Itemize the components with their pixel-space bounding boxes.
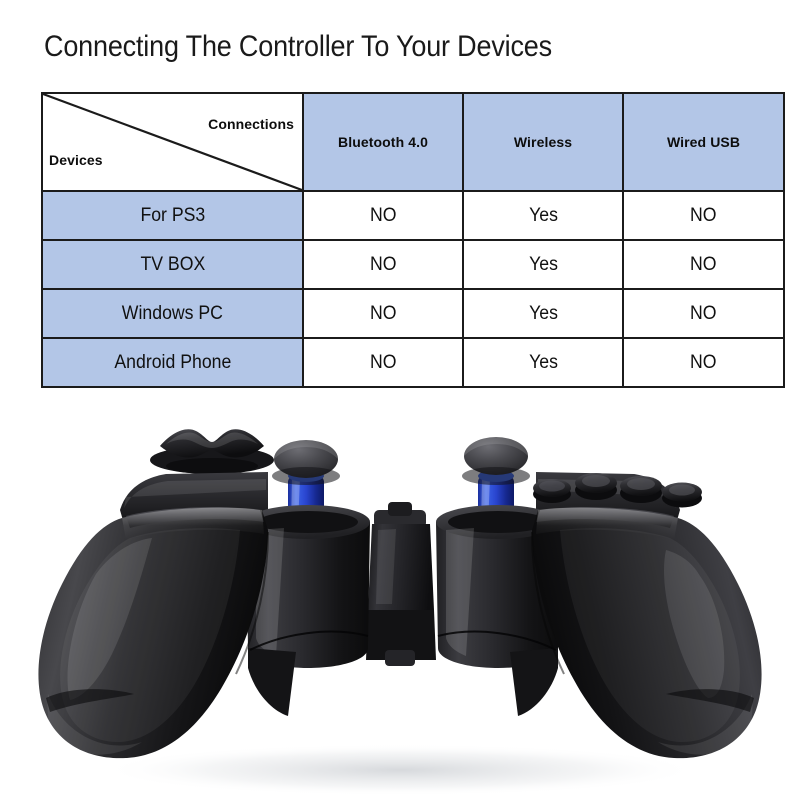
cell-text: NO (370, 205, 397, 227)
cell-tvbox-wired-usb: NO (623, 240, 784, 289)
face-button (575, 473, 617, 500)
cell-text: Yes (529, 352, 558, 374)
table-row: Windows PC NO Yes NO (42, 289, 784, 338)
cell-text: NO (690, 303, 717, 325)
cell-android-wired-usb: NO (623, 338, 784, 387)
left-grip (38, 507, 268, 758)
cell-text: NO (370, 303, 397, 325)
cell-text: Yes (529, 303, 558, 325)
d-pad (150, 429, 274, 474)
table-row: For PS3 NO Yes NO (42, 191, 784, 240)
column-header-wireless: Wireless (463, 93, 623, 191)
cell-android-bluetooth: NO (303, 338, 463, 387)
row-label-for-ps3: For PS3 (42, 191, 303, 240)
row-label-text: TV BOX (140, 254, 205, 276)
row-label-text: For PS3 (140, 205, 205, 227)
corner-devices-label: Devices (49, 152, 103, 168)
cell-text: NO (690, 254, 717, 276)
gamepad-illustration (0, 398, 800, 800)
cell-windows-wired-usb: NO (623, 289, 784, 338)
cell-windows-wireless: Yes (463, 289, 623, 338)
table-row: Android Phone NO Yes NO (42, 338, 784, 387)
product-image (0, 398, 800, 800)
corner-diagonal-line (43, 94, 302, 190)
row-label-tv-box: TV BOX (42, 240, 303, 289)
row-label-text: Windows PC (122, 303, 223, 325)
cell-text: NO (690, 205, 717, 227)
face-button (662, 483, 702, 508)
row-label-android-phone: Android Phone (42, 338, 303, 387)
column-header-wired-usb: Wired USB (623, 93, 784, 191)
cell-text: NO (370, 352, 397, 374)
row-label-windows-pc: Windows PC (42, 289, 303, 338)
drop-shadow (100, 744, 700, 796)
right-grip (532, 507, 762, 758)
cell-android-wireless: Yes (463, 338, 623, 387)
cell-windows-bluetooth: NO (303, 289, 463, 338)
table-row: TV BOX NO Yes NO (42, 240, 784, 289)
table-corner-cell: Connections Devices (42, 93, 303, 191)
corner-connections-label: Connections (208, 116, 294, 132)
table-header-row: Connections Devices Bluetooth 4.0 Wirele… (42, 93, 784, 191)
row-label-text: Android Phone (114, 352, 231, 374)
cell-tvbox-bluetooth: NO (303, 240, 463, 289)
cell-ps3-wired-usb: NO (623, 191, 784, 240)
cell-ps3-bluetooth: NO (303, 191, 463, 240)
cell-text: NO (690, 352, 717, 374)
column-header-bluetooth: Bluetooth 4.0 (303, 93, 463, 191)
page-title: Connecting The Controller To Your Device… (44, 30, 552, 64)
center-housing (366, 502, 436, 666)
cell-ps3-wireless: Yes (463, 191, 623, 240)
cell-text: Yes (529, 205, 558, 227)
face-button (533, 479, 571, 503)
face-button (620, 476, 662, 503)
compatibility-table: Connections Devices Bluetooth 4.0 Wirele… (41, 92, 785, 388)
cell-tvbox-wireless: Yes (463, 240, 623, 289)
cell-text: Yes (529, 254, 558, 276)
cell-text: NO (370, 254, 397, 276)
